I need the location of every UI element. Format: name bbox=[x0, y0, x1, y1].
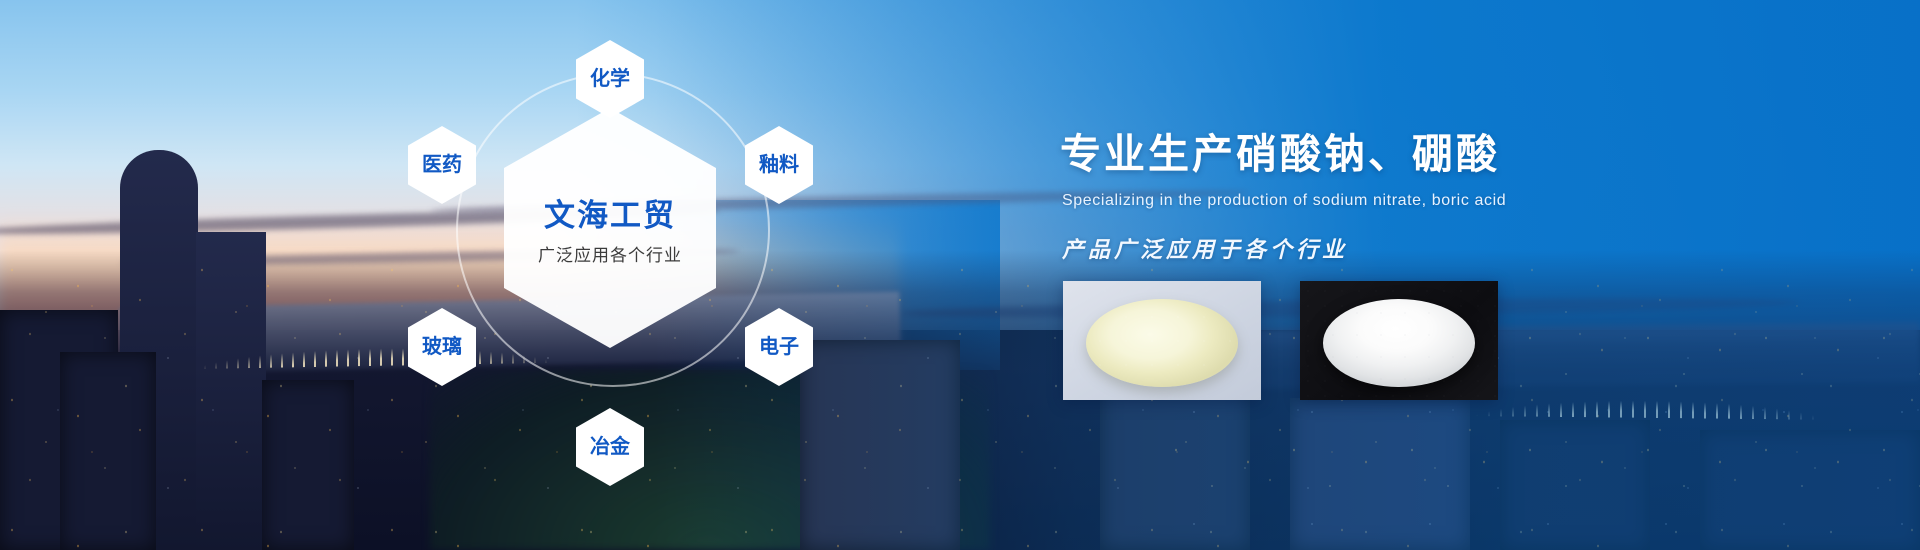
headline-english: Specializing in the production of sodium… bbox=[1062, 192, 1860, 210]
headline: 专业生产硝酸钠、硼酸 bbox=[1060, 120, 1860, 180]
product-photo-row bbox=[1063, 281, 1498, 400]
photo-speckle bbox=[1300, 281, 1498, 400]
hex-label: 釉料 bbox=[759, 155, 799, 175]
product-photo-sodium-nitrate[interactable] bbox=[1063, 281, 1261, 400]
background-scene bbox=[0, 0, 1920, 550]
hex-label: 化学 bbox=[590, 69, 630, 89]
company-tagline: 广泛应用各个行业 bbox=[538, 241, 682, 266]
hex-label: 冶金 bbox=[590, 437, 630, 457]
tagline: 产品广泛应用于各个行业 bbox=[1062, 232, 1860, 264]
hex-node-metallurgy[interactable]: 冶金 bbox=[576, 408, 644, 486]
company-name: 文海工贸 bbox=[544, 190, 676, 235]
hex-label: 医药 bbox=[422, 155, 462, 175]
photo-speckle bbox=[1063, 281, 1261, 400]
hex-label: 玻璃 bbox=[422, 337, 462, 357]
headline-block: 专业生产硝酸钠、硼酸 Specializing in the productio… bbox=[1060, 120, 1860, 264]
product-photo-boric-acid[interactable] bbox=[1300, 281, 1498, 400]
bridge-lights bbox=[1440, 390, 1860, 420]
industry-hex-diagram: 化学 釉料 医药 玻璃 电子 冶金 文海工贸 广泛应用各个行业 bbox=[430, 18, 790, 538]
promo-banner: 化学 釉料 医药 玻璃 电子 冶金 文海工贸 广泛应用各个行业 专业生产硝酸钠、… bbox=[0, 0, 1920, 550]
hex-label: 电子 bbox=[759, 337, 799, 357]
